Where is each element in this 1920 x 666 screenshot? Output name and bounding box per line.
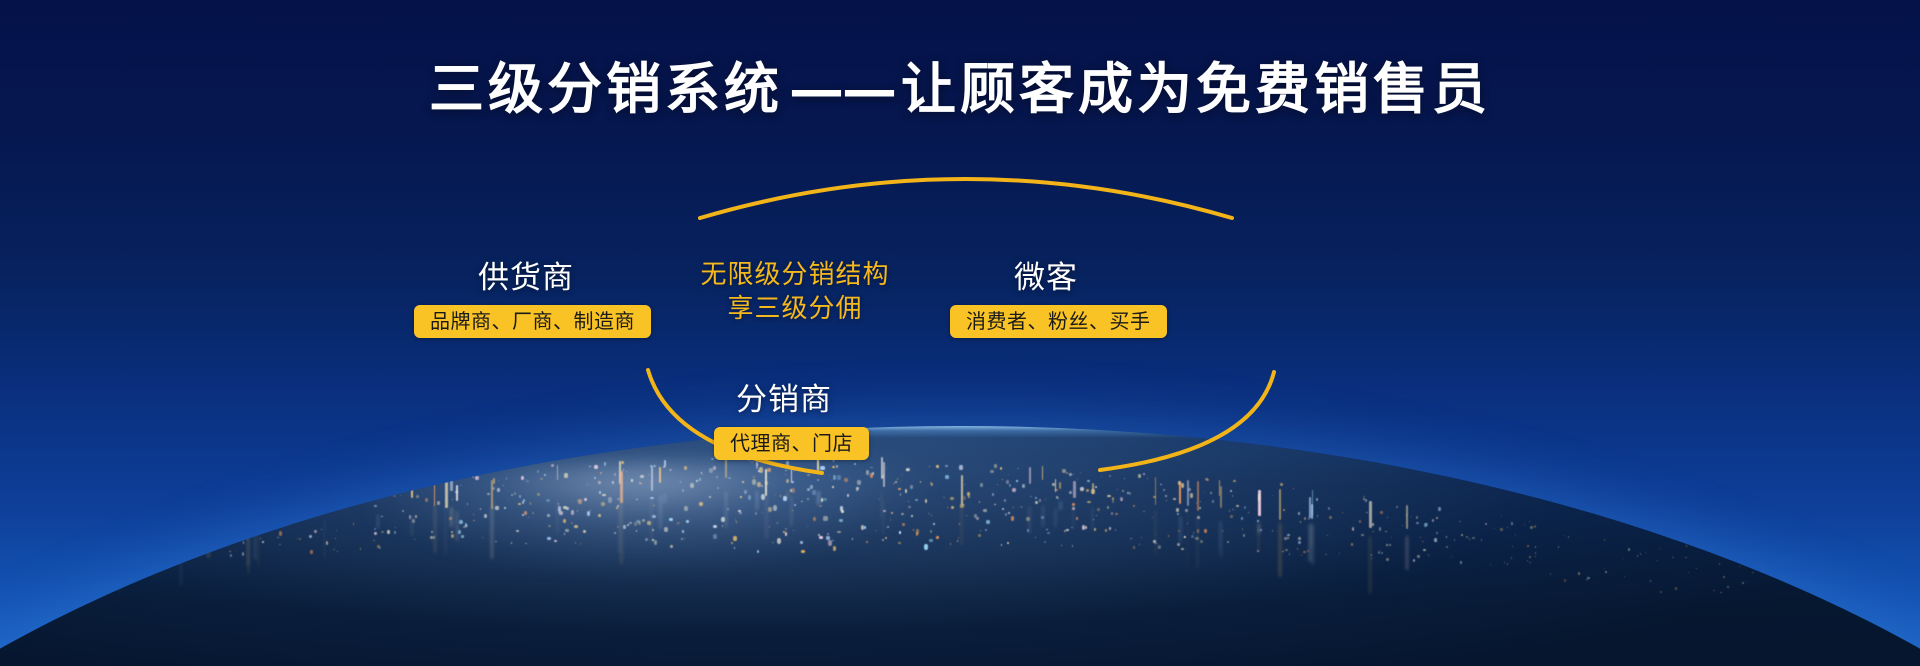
node-dealer-title: 分销商	[714, 380, 854, 420]
center-caption: 无限级分销结构 享三级分佣	[700, 258, 890, 326]
page-title: 三级分销系统——让顾客成为免费销售员	[0, 44, 1920, 124]
supplier-to-weike-arc	[700, 179, 1232, 218]
center-caption-line1: 无限级分销结构	[700, 258, 890, 292]
night-city-lights	[0, 430, 1830, 610]
title-dash: ——	[783, 56, 901, 121]
node-supplier-title: 供货商	[414, 258, 638, 298]
node-weike-title: 微客	[950, 258, 1142, 298]
center-caption-line2: 享三级分佣	[700, 292, 890, 326]
globe-horizon	[0, 426, 1920, 666]
node-weike[interactable]: 微客 消费者、粉丝、买手	[950, 258, 1142, 338]
title-main: 三级分销系统	[429, 56, 783, 121]
title-sub: 让顾客成为免费销售员	[901, 56, 1491, 121]
node-supplier-badge: 品牌商、厂商、制造商	[414, 305, 651, 338]
banner: 三级分销系统——让顾客成为免费销售员 供货商 品牌商、厂商、制造商 微客 消费者…	[0, 0, 1920, 666]
node-supplier[interactable]: 供货商 品牌商、厂商、制造商	[414, 258, 638, 338]
node-weike-badge: 消费者、粉丝、买手	[950, 305, 1167, 338]
